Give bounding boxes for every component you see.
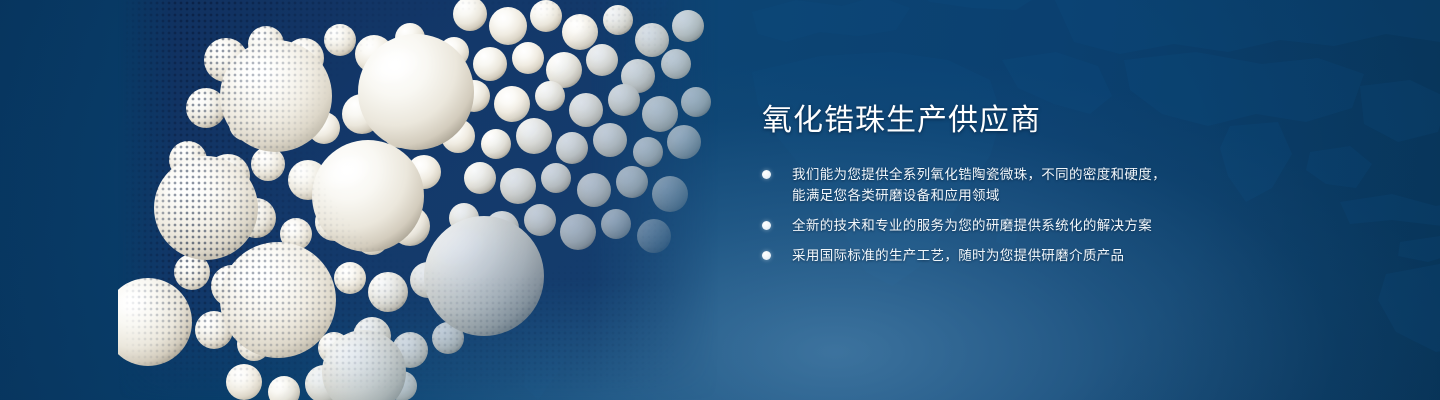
banner-copy: 氧化锆珠生产供应商 我们能为您提供全系列氧化锆陶瓷微珠，不同的密度和硬度， 能满…: [762, 104, 1232, 266]
halftone-edge-texture: [118, 0, 718, 400]
zirconia-beads-photo: [118, 0, 718, 400]
list-item-line: 全新的技术和专业的服务为您的研磨提供系统化的解决方案: [792, 215, 1232, 236]
list-item-line: 能满足您各类研磨设备和应用领域: [792, 185, 1232, 206]
bullet-dot-icon: [762, 170, 771, 179]
bullet-dot-icon: [762, 221, 771, 230]
bullet-dot-icon: [762, 251, 771, 260]
page-title: 氧化锆珠生产供应商: [762, 104, 1232, 138]
list-item-line: 采用国际标准的生产工艺，随时为您提供研磨介质产品: [792, 245, 1232, 266]
hero-banner: 氧化锆珠生产供应商 我们能为您提供全系列氧化锆陶瓷微珠，不同的密度和硬度， 能满…: [0, 0, 1440, 400]
list-item: 采用国际标准的生产工艺，随时为您提供研磨介质产品: [762, 245, 1232, 266]
list-item: 我们能为您提供全系列氧化锆陶瓷微珠，不同的密度和硬度， 能满足您各类研磨设备和应…: [762, 164, 1232, 206]
feature-list: 我们能为您提供全系列氧化锆陶瓷微珠，不同的密度和硬度， 能满足您各类研磨设备和应…: [762, 164, 1232, 266]
list-item: 全新的技术和专业的服务为您的研磨提供系统化的解决方案: [762, 215, 1232, 236]
list-item-line: 我们能为您提供全系列氧化锆陶瓷微珠，不同的密度和硬度，: [792, 164, 1232, 185]
